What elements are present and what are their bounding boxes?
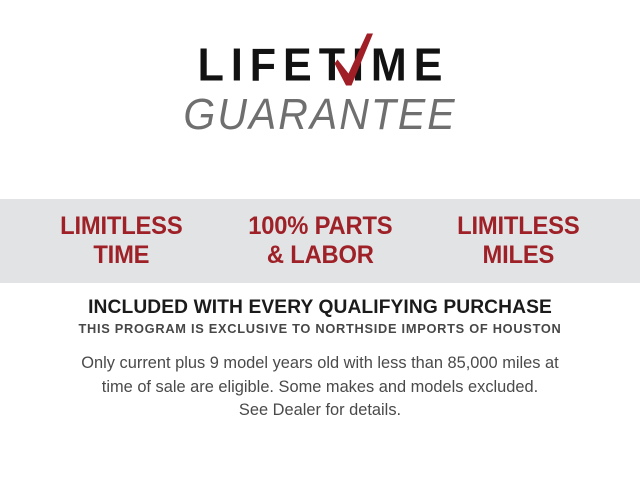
footer-fineprint: Only current plus 9 model years old with… — [0, 352, 640, 422]
lifetime-guarantee-ad: LIFETIME GUARANTEE LIMITLESS TIME 100% P… — [0, 0, 640, 480]
benefit-line-2: MILES — [424, 241, 613, 271]
logo-block: LIFETIME GUARANTEE — [0, 46, 640, 135]
logo-subtitle: GUARANTEE — [183, 91, 456, 138]
footer-block: INCLUDED WITH EVERY QUALIFYING PURCHASE … — [0, 296, 640, 422]
footer-headline: INCLUDED WITH EVERY QUALIFYING PURCHASE — [5, 296, 635, 318]
benefit-column-parts-labor: 100% PARTS & LABOR — [226, 212, 415, 271]
fineprint-line-1: Only current plus 9 model years old with… — [26, 352, 614, 375]
benefit-line-1: LIMITLESS — [424, 212, 613, 242]
benefit-line-2: TIME — [27, 241, 216, 271]
benefit-line-2: & LABOR — [226, 241, 415, 271]
benefit-column-limitless-miles: LIMITLESS MILES — [424, 212, 613, 271]
benefit-line-1: LIMITLESS — [27, 212, 216, 242]
benefit-line-1: 100% PARTS — [226, 212, 415, 242]
fineprint-line-3: See Dealer for details. — [26, 399, 614, 422]
benefit-column-limitless-time: LIMITLESS TIME — [27, 212, 216, 271]
benefit-band: LIMITLESS TIME 100% PARTS & LABOR LIMITL… — [0, 199, 640, 283]
logo-wordmark: LIFETIME GUARANTEE — [183, 46, 456, 135]
logo-title: LIFETIME — [183, 43, 456, 89]
footer-subheadline: THIS PROGRAM IS EXCLUSIVE TO NORTHSIDE I… — [10, 321, 631, 337]
fineprint-line-2: time of sale are eligible. Some makes an… — [26, 376, 614, 399]
